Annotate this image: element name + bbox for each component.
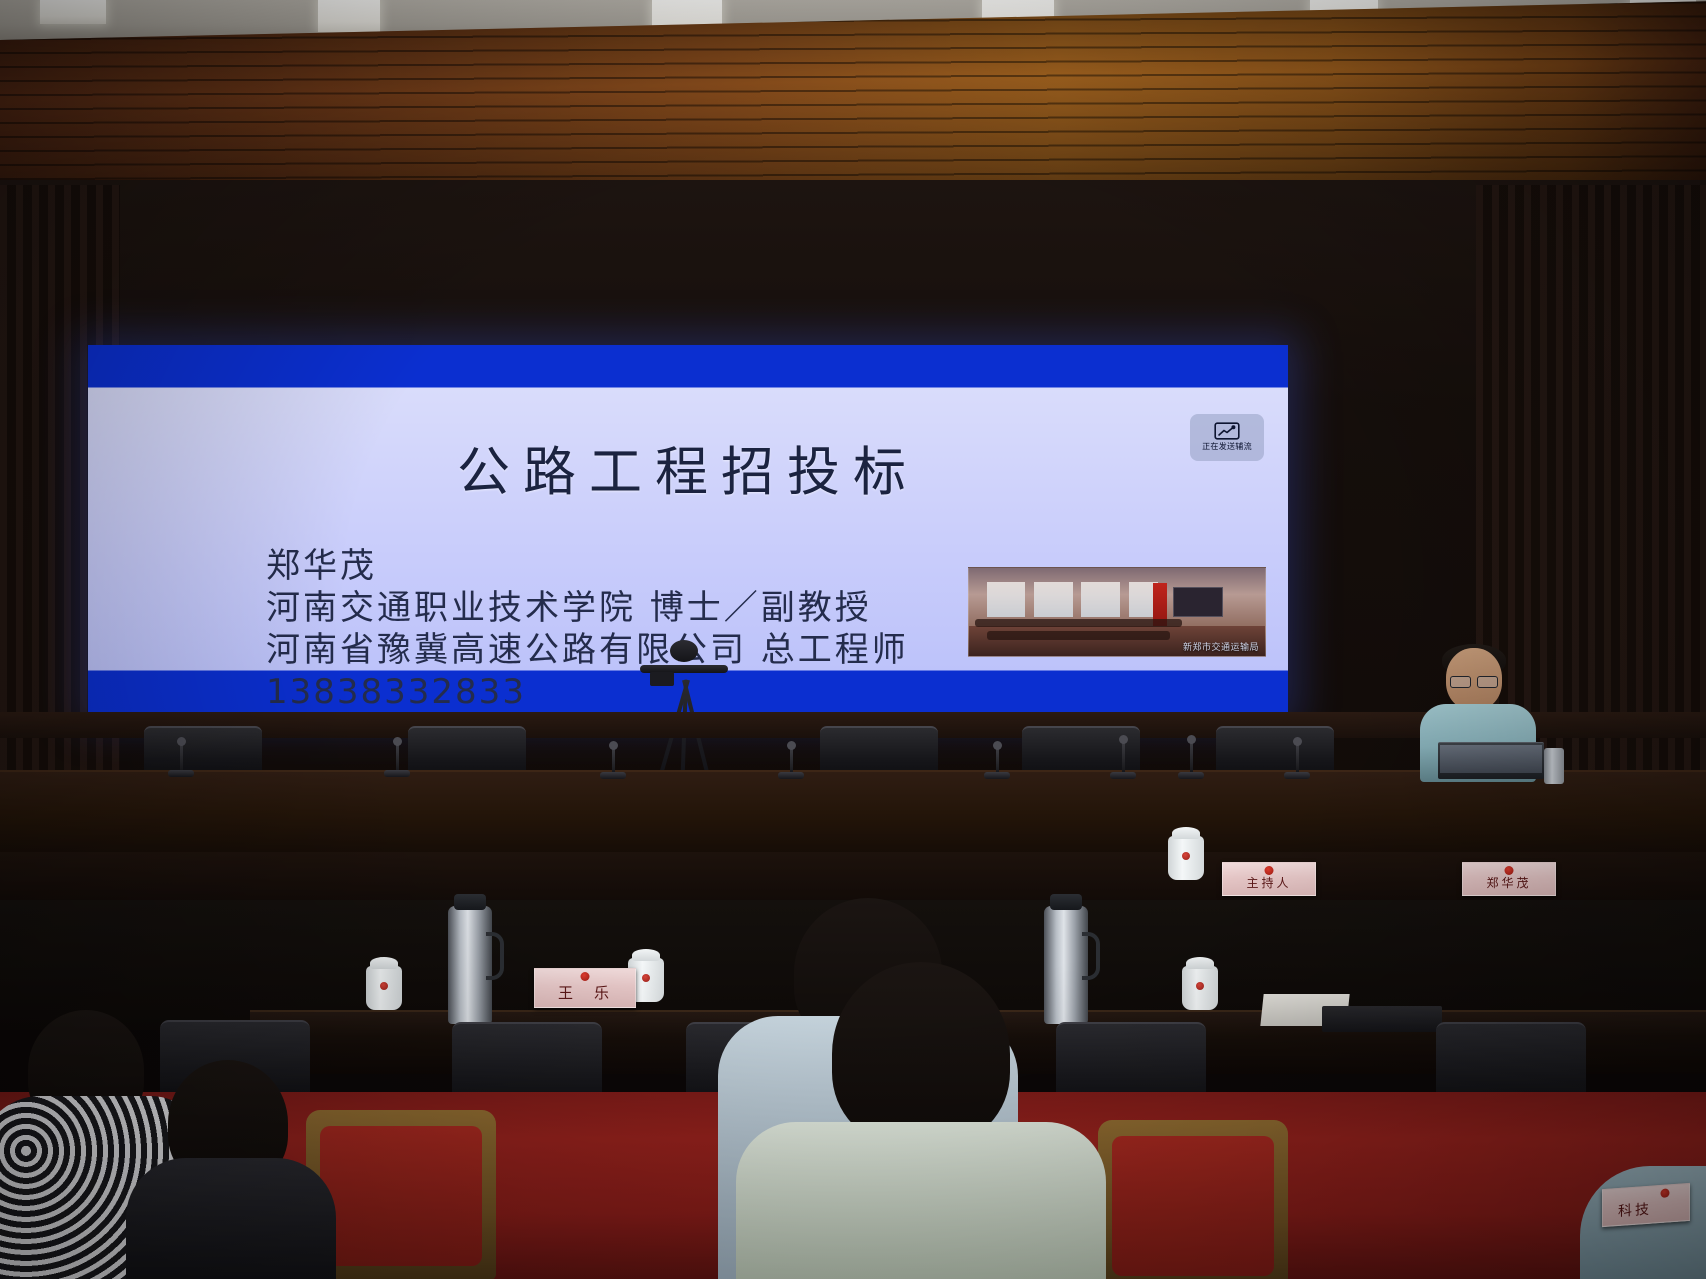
slide-line-college: 河南交通职业技术学院 博士／副教授: [266, 588, 909, 628]
banquet-chair: [1098, 1120, 1288, 1279]
thermos-handle: [1082, 932, 1100, 980]
nameplate-text: 王 乐: [558, 982, 612, 1007]
cup-lid: [632, 949, 660, 961]
microphone: [1122, 742, 1125, 772]
screen-share-icon: [1214, 422, 1240, 440]
nameplate-speaker: 郑华茂: [1462, 862, 1556, 896]
ceiling-light-panel: [318, 0, 380, 32]
cup-lid: [1172, 827, 1200, 839]
pip-remote-video: 新郑市交通运输局: [968, 567, 1266, 657]
slide-body-text: 郑华茂 河南交通职业技术学院 博士／副教授 河南省豫冀高速公路有限公司 总工程师…: [266, 546, 909, 714]
nameplate-audience-wangle: 王 乐: [534, 968, 636, 1008]
microphone-base: [984, 772, 1010, 779]
pip-site-label: 新郑市交通运输局: [1183, 640, 1259, 653]
microphone: [790, 748, 793, 774]
speaker-thermos: [1544, 748, 1564, 784]
cup-emblem: [1196, 982, 1204, 990]
nameplate-emblem: [581, 972, 590, 981]
microphone: [996, 748, 999, 774]
cup-emblem: [380, 982, 388, 990]
thermos-flask: [448, 906, 492, 1024]
pip-table: [975, 619, 1182, 628]
microphone: [612, 748, 615, 774]
audience-shoulders: [126, 1158, 336, 1279]
microphone: [396, 744, 399, 772]
audience-head: [832, 962, 1010, 1146]
microphone: [1296, 744, 1299, 772]
nameplate-emblem: [1265, 866, 1274, 875]
laptop: [1438, 742, 1544, 779]
microphone-base: [1178, 772, 1204, 779]
stream-status-badge: 正在发送辅流: [1190, 414, 1264, 461]
thermos-lid: [454, 894, 486, 910]
microphone-base: [600, 772, 626, 779]
microphone: [180, 744, 183, 772]
notebook: [1322, 1006, 1442, 1032]
camera-head-icon: [670, 640, 698, 662]
pip-window: [1034, 582, 1072, 617]
dais-table: [0, 770, 1706, 862]
microphone-base: [1110, 772, 1136, 779]
cup-lid: [1186, 957, 1214, 969]
stream-status-label: 正在发送辅流: [1202, 441, 1252, 452]
pip-window: [987, 582, 1025, 617]
pip-table: [987, 631, 1171, 640]
pip-window: [1081, 582, 1119, 617]
nameplate-audience-keji: 科技: [1602, 1183, 1690, 1227]
conference-room-photo: 公路工程招投标 郑华茂 河南交通职业技术学院 博士／副教授 河南省豫冀高速公路有…: [0, 0, 1706, 1279]
glasses-icon: [1450, 676, 1498, 686]
cup-lid: [370, 957, 398, 969]
slide-line-phone: 13838332833: [266, 672, 909, 712]
ceiling-light-panel: [40, 0, 106, 24]
microphone-base: [384, 770, 410, 777]
microphone-base: [168, 770, 194, 777]
cup-emblem: [1182, 852, 1190, 860]
slide-line-name: 郑华茂: [266, 546, 909, 586]
pip-monitor: [1173, 587, 1222, 617]
slide-content-area: 公路工程招投标 郑华茂 河南交通职业技术学院 博士／副教授 河南省豫冀高速公路有…: [88, 388, 1288, 671]
nameplate-moderator: 主持人: [1222, 862, 1316, 896]
slide-title: 公路工程招投标: [88, 430, 1288, 506]
nameplate-text: 科技: [1618, 1197, 1674, 1225]
thermos-lid: [1050, 894, 1082, 910]
nameplate-text: 主持人: [1246, 874, 1291, 895]
thermos-handle: [486, 932, 504, 980]
cup-emblem: [642, 974, 650, 982]
camera-body: [650, 672, 674, 686]
microphone-base: [1284, 772, 1310, 779]
microphone-base: [778, 772, 804, 779]
tea-cup: [1182, 966, 1218, 1010]
tea-cup: [366, 966, 402, 1010]
nameplate-text: 郑华茂: [1486, 874, 1531, 895]
slide-line-company: 河南省豫冀高速公路有限公司 总工程师: [266, 630, 909, 670]
microphone: [1190, 742, 1193, 772]
tea-cup: [1168, 836, 1204, 880]
nameplate-emblem: [1505, 866, 1514, 875]
thermos-flask: [1044, 906, 1088, 1024]
audience-shoulders: [736, 1122, 1106, 1279]
